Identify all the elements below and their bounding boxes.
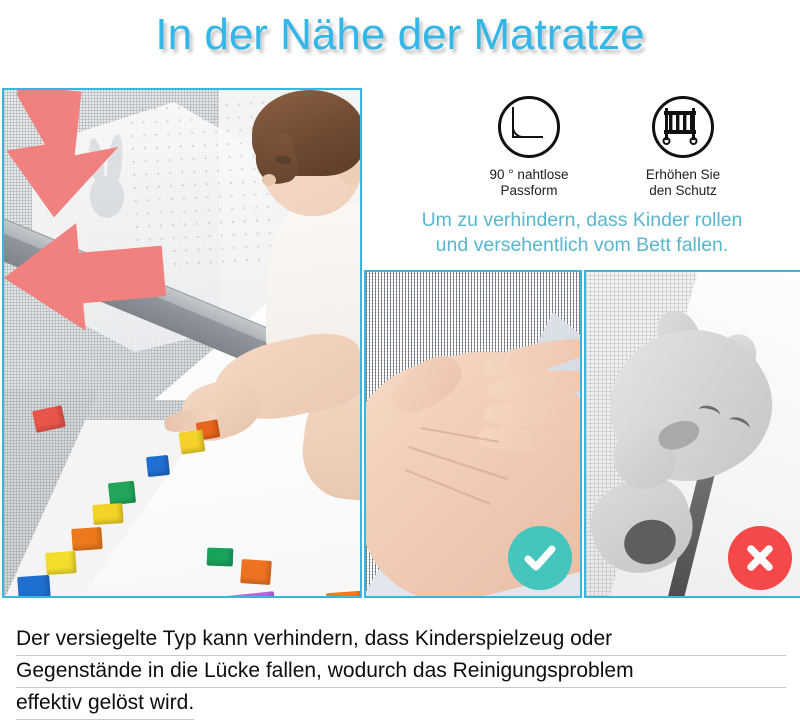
toy-block xyxy=(92,503,123,525)
plush-toy-in-gap-photo xyxy=(584,270,800,598)
baby-nose xyxy=(262,174,276,186)
toy-block xyxy=(45,551,76,575)
product-infographic: In der Nähe der Matratze xyxy=(0,0,800,720)
caption-line-2: Gegenstände in die Lücke fallen, wodurch… xyxy=(16,656,786,688)
feature-crib-rail: Erhöhen Sie den Schutz xyxy=(608,96,758,214)
feature-label: Erhöhen Sie den Schutz xyxy=(646,167,720,199)
crib-rail-icon xyxy=(652,96,714,158)
hand-under-mesh-photo xyxy=(364,270,582,598)
toy-block xyxy=(240,559,272,585)
subheadline: Um zu verhindern, dass Kinder rollen und… xyxy=(366,208,798,258)
baby-at-bed-rail-photo xyxy=(2,88,362,598)
x-icon xyxy=(728,526,792,590)
right-angle-icon xyxy=(498,96,560,158)
caption-line-3: effektiv gelöst wird. xyxy=(16,688,194,720)
toy-block xyxy=(17,575,51,598)
toy-block xyxy=(108,481,136,506)
main-photo-scene xyxy=(4,90,360,596)
toy-block xyxy=(71,527,102,551)
toy-block xyxy=(179,429,206,454)
page-title: In der Nähe der Matratze xyxy=(0,2,800,72)
toy-block xyxy=(326,591,362,598)
feature-icon-row: 90 ° nahtlose Passform Erhöhen Sie den S… xyxy=(440,96,798,214)
feature-right-angle: 90 ° nahtlose Passform xyxy=(454,96,604,214)
caption-line-1: Der versiegelte Typ kann verhindern, das… xyxy=(16,624,786,656)
toy-block xyxy=(146,455,170,477)
toy-block xyxy=(207,548,234,567)
bottom-caption: Der versiegelte Typ kann verhindern, das… xyxy=(16,624,786,720)
check-icon xyxy=(508,526,572,590)
feature-label: 90 ° nahtlose Passform xyxy=(490,167,569,199)
